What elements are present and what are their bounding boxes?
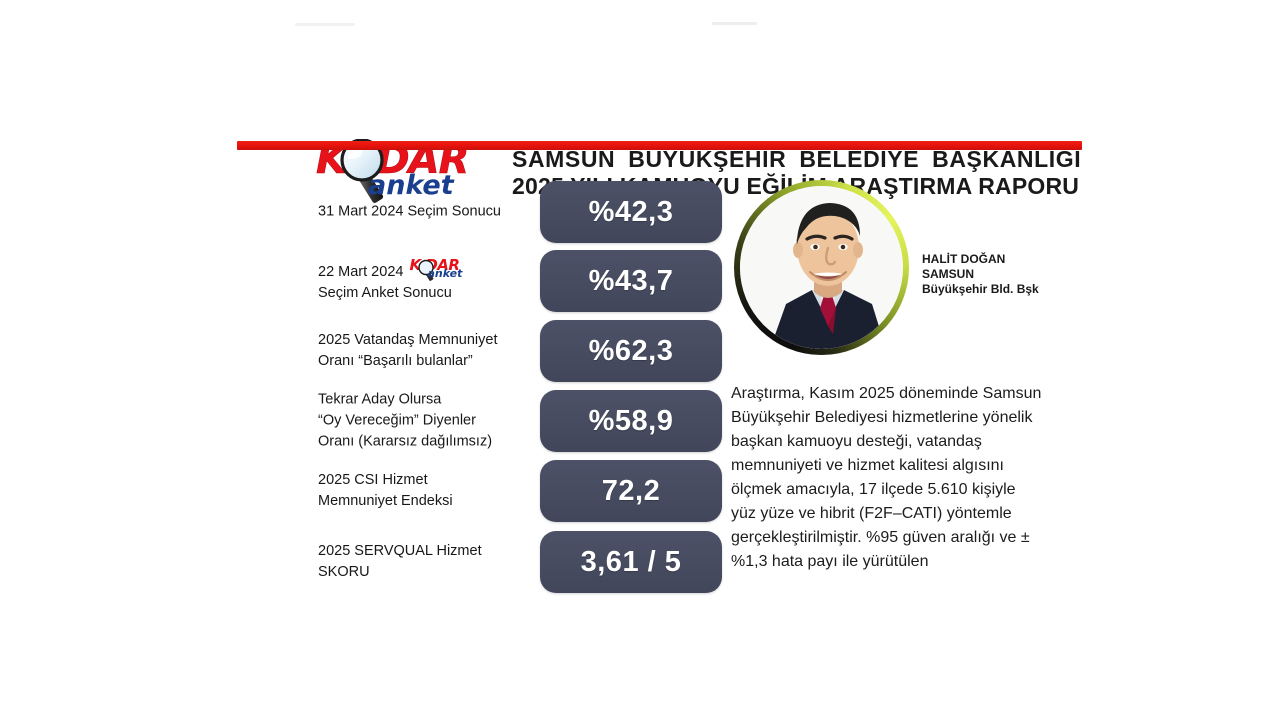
metric-label: Tekrar Aday Olursa“Oy Vereceğim” Diyenle… <box>318 390 533 453</box>
metric-label: 31 Mart 2024 Seçim Sonucu <box>318 202 533 223</box>
metric-label-line: 31 Mart 2024 Seçim Sonucu <box>318 202 533 223</box>
person-name: HALİT DOĞAN <box>922 252 1039 267</box>
metric-row: 31 Mart 2024 Seçim Sonucu%42,3 <box>318 181 728 243</box>
metric-value: %58,9 <box>589 405 674 438</box>
person-role: Büyükşehir Bld. Bşk <box>922 282 1039 297</box>
mayor-portrait <box>734 180 909 355</box>
portrait-photo <box>740 186 903 349</box>
metric-value-pill: %58,9 <box>540 390 722 452</box>
metric-value-pill: 72,2 <box>540 460 722 522</box>
metric-label-line: Seçim Anket Sonucu <box>318 283 533 304</box>
metric-label-line: Memnuniyet Endeksi <box>318 491 533 512</box>
metric-value: %43,7 <box>589 265 674 298</box>
metric-label-line: 2025 CSI Hizmet <box>318 470 533 491</box>
methodology-description: Araştırma, Kasım 2025 döneminde Samsun B… <box>731 382 1043 574</box>
metric-label: 22 Mart 2024 K DARanketSeçim Anket Sonuc… <box>318 258 533 304</box>
metrics-list: 31 Mart 2024 Seçim Sonucu%42,322 Mart 20… <box>0 0 1280 720</box>
metric-label-line: SKORU <box>318 562 533 583</box>
metric-row: 2025 CSI HizmetMemnuniyet Endeksi72,2 <box>318 460 728 522</box>
metric-value: %42,3 <box>589 196 674 229</box>
person-city: SAMSUN <box>922 267 1039 282</box>
metric-label-line: 2025 SERVQUAL Hizmet <box>318 541 533 562</box>
metric-label-line: “Oy Vereceğim” Diyenler <box>318 411 533 432</box>
metric-value-pill: %43,7 <box>540 250 722 312</box>
metric-label: 2025 SERVQUAL HizmetSKORU <box>318 541 533 583</box>
metric-row: 2025 SERVQUAL HizmetSKORU3,61 / 5 <box>318 531 728 593</box>
metric-row: Tekrar Aday Olursa“Oy Vereceğim” Diyenle… <box>318 390 728 452</box>
metric-value: 3,61 / 5 <box>581 546 682 579</box>
metric-label-line: 22 Mart 2024 K DARanket <box>318 258 533 283</box>
metric-row: 22 Mart 2024 K DARanketSeçim Anket Sonuc… <box>318 250 728 312</box>
metric-value: 72,2 <box>602 475 660 508</box>
metric-value: %62,3 <box>589 335 674 368</box>
metric-label: 2025 Vatandaş MemnuniyetOranı “Başarılı … <box>318 330 533 372</box>
metric-value-pill: %62,3 <box>540 320 722 382</box>
metric-label-line: Oranı (Kararsız dağılımsız) <box>318 432 533 453</box>
metric-label-line: Tekrar Aday Olursa <box>318 390 533 411</box>
metric-value-pill: 3,61 / 5 <box>540 531 722 593</box>
inline-logo-subword: anket <box>427 268 462 279</box>
kodar-anket-logo-inline: K DARanket <box>409 258 469 280</box>
metric-label-line: 2025 Vatandaş Memnuniyet <box>318 330 533 351</box>
metric-value-pill: %42,3 <box>540 181 722 243</box>
metric-row: 2025 Vatandaş MemnuniyetOranı “Başarılı … <box>318 320 728 382</box>
metric-label: 2025 CSI HizmetMemnuniyet Endeksi <box>318 470 533 512</box>
metric-label-line: Oranı “Başarılı bulanlar” <box>318 351 533 372</box>
portrait-caption: HALİT DOĞAN SAMSUN Büyükşehir Bld. Bşk <box>922 252 1039 297</box>
methodology-text: Araştırma, Kasım 2025 döneminde Samsun B… <box>731 382 1043 574</box>
